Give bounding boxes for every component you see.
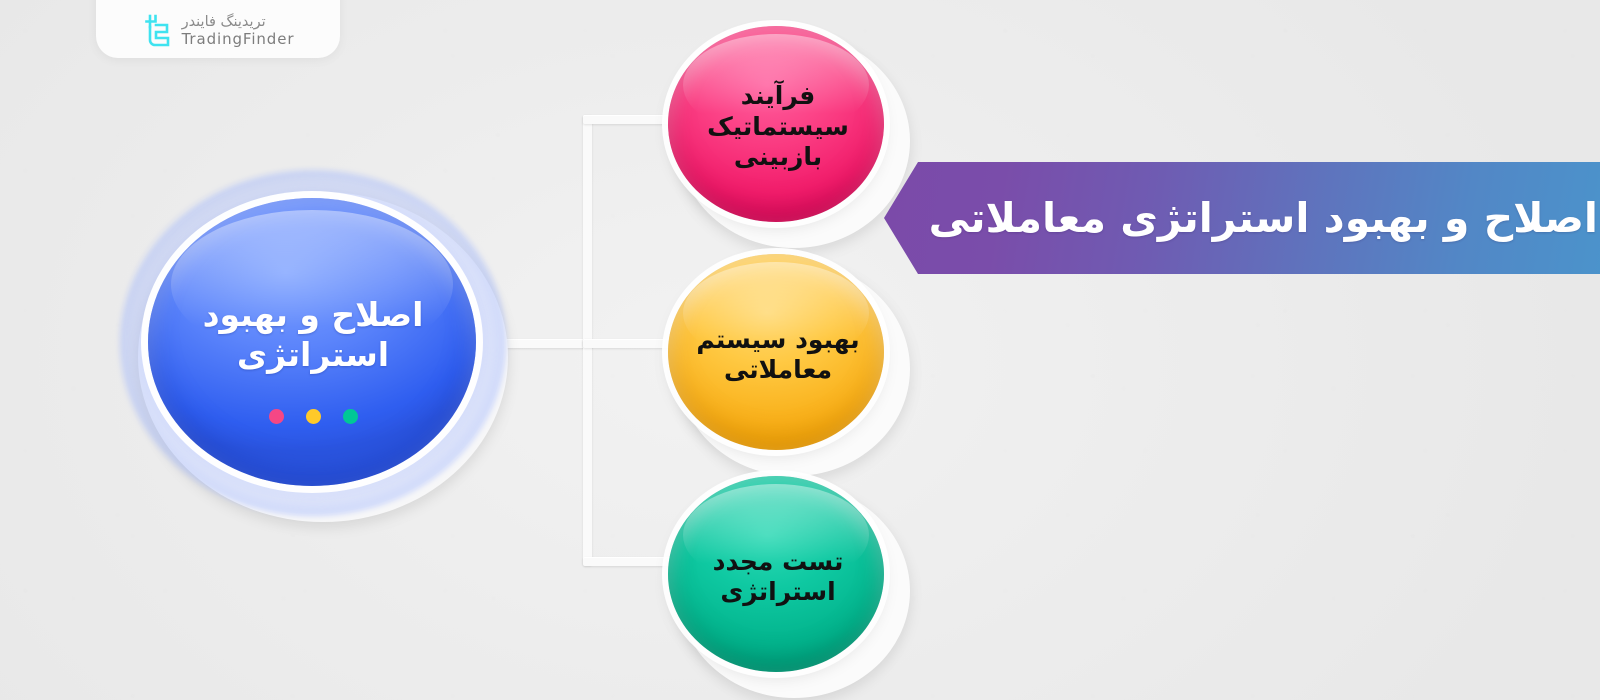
tradingfinder-logo-icon: [142, 14, 172, 48]
branch-node-2[interactable]: بهبود سیستم معاملاتی: [662, 248, 894, 462]
root-node[interactable]: اصلاح و بهبود استراتژی: [128, 178, 498, 508]
branch-node-3-label: تست مجدد استراتژی: [713, 547, 844, 608]
brand-logo-badge[interactable]: تریدینگ فایندر TradingFinder: [96, 0, 340, 58]
connector-spine-lower: [583, 339, 592, 565]
branch-node-1-label: فرآیند سیستماتیک بازبینی: [707, 81, 849, 173]
brand-name-en: TradingFinder: [182, 31, 295, 48]
banner-title: اصلاح و بهبود استراتژی معاملاتی: [884, 194, 1598, 242]
root-node-dots: [128, 409, 498, 424]
branch-node-3[interactable]: تست مجدد استراتژی: [662, 470, 894, 684]
connector-spine-upper: [583, 115, 592, 347]
branch-node-2-label: بهبود سیستم معاملاتی: [696, 325, 859, 386]
title-banner: اصلاح و بهبود استراتژی معاملاتی: [884, 162, 1600, 274]
infographic-canvas: اصلاح و بهبود استراتژی فرآیند سیستماتیک …: [0, 0, 1600, 700]
dot-yellow: [306, 409, 321, 424]
dot-pink: [269, 409, 284, 424]
branch-node-1[interactable]: فرآیند سیستماتیک بازبینی: [662, 20, 894, 234]
root-node-label: اصلاح و بهبود استراتژی: [203, 295, 424, 376]
brand-name-fa: تریدینگ فایندر: [182, 14, 266, 31]
dot-green: [343, 409, 358, 424]
